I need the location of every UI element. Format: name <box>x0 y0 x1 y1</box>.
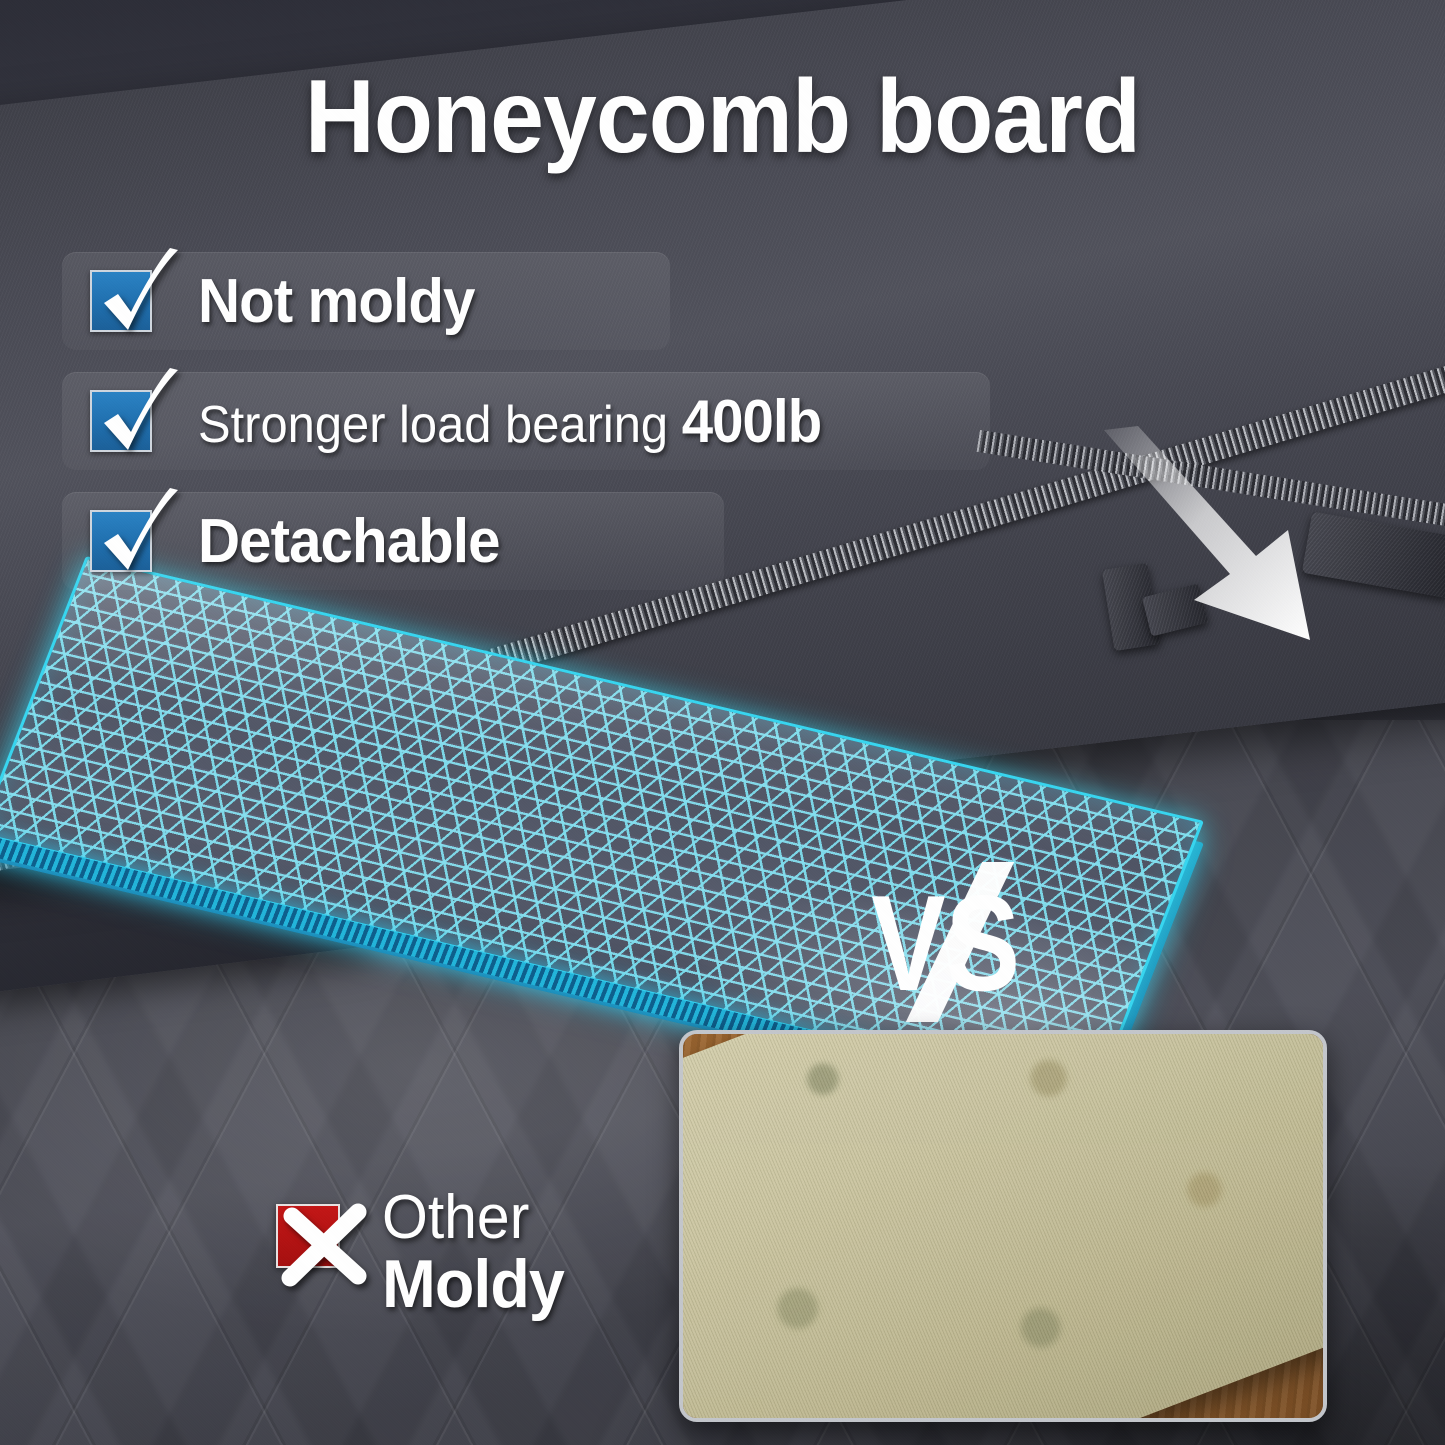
checkmark-glyph <box>98 246 184 334</box>
other-label: Other <box>382 1186 564 1249</box>
vs-badge: VS <box>868 862 1048 1022</box>
arrow-down-right-icon <box>1098 424 1378 664</box>
feature-row-detachable: Detachable <box>62 492 724 590</box>
check-icon <box>90 510 152 572</box>
feature-label-text: Stronger load bearing <box>198 396 682 454</box>
feature-list: Not moldy Stronger load bearing 400lb De… <box>62 252 1022 612</box>
checkmark-glyph <box>98 486 184 574</box>
moldy-board-photo <box>679 1030 1327 1422</box>
moldy-label: Moldy <box>382 1249 564 1320</box>
feature-label: Detachable <box>198 506 500 577</box>
feature-label: Stronger load bearing 400lb <box>198 387 821 456</box>
x-glyph <box>272 1196 376 1300</box>
product-infographic: VS Honeycomb board Not moldy Stronger lo… <box>0 0 1445 1445</box>
x-icon <box>276 1204 340 1268</box>
other-moldy-text: Other Moldy <box>382 1186 573 1321</box>
page-title: Honeycomb board <box>51 58 1395 177</box>
checkmark-glyph <box>98 366 184 454</box>
check-icon <box>90 270 152 332</box>
feature-label: Not moldy <box>198 266 474 337</box>
feature-row-load-bearing: Stronger load bearing 400lb <box>62 372 990 470</box>
moldy-particle-board <box>679 1030 1327 1422</box>
check-icon <box>90 390 152 452</box>
feature-label-emphasis: 400lb <box>682 388 822 455</box>
feature-row-not-moldy: Not moldy <box>62 252 670 350</box>
